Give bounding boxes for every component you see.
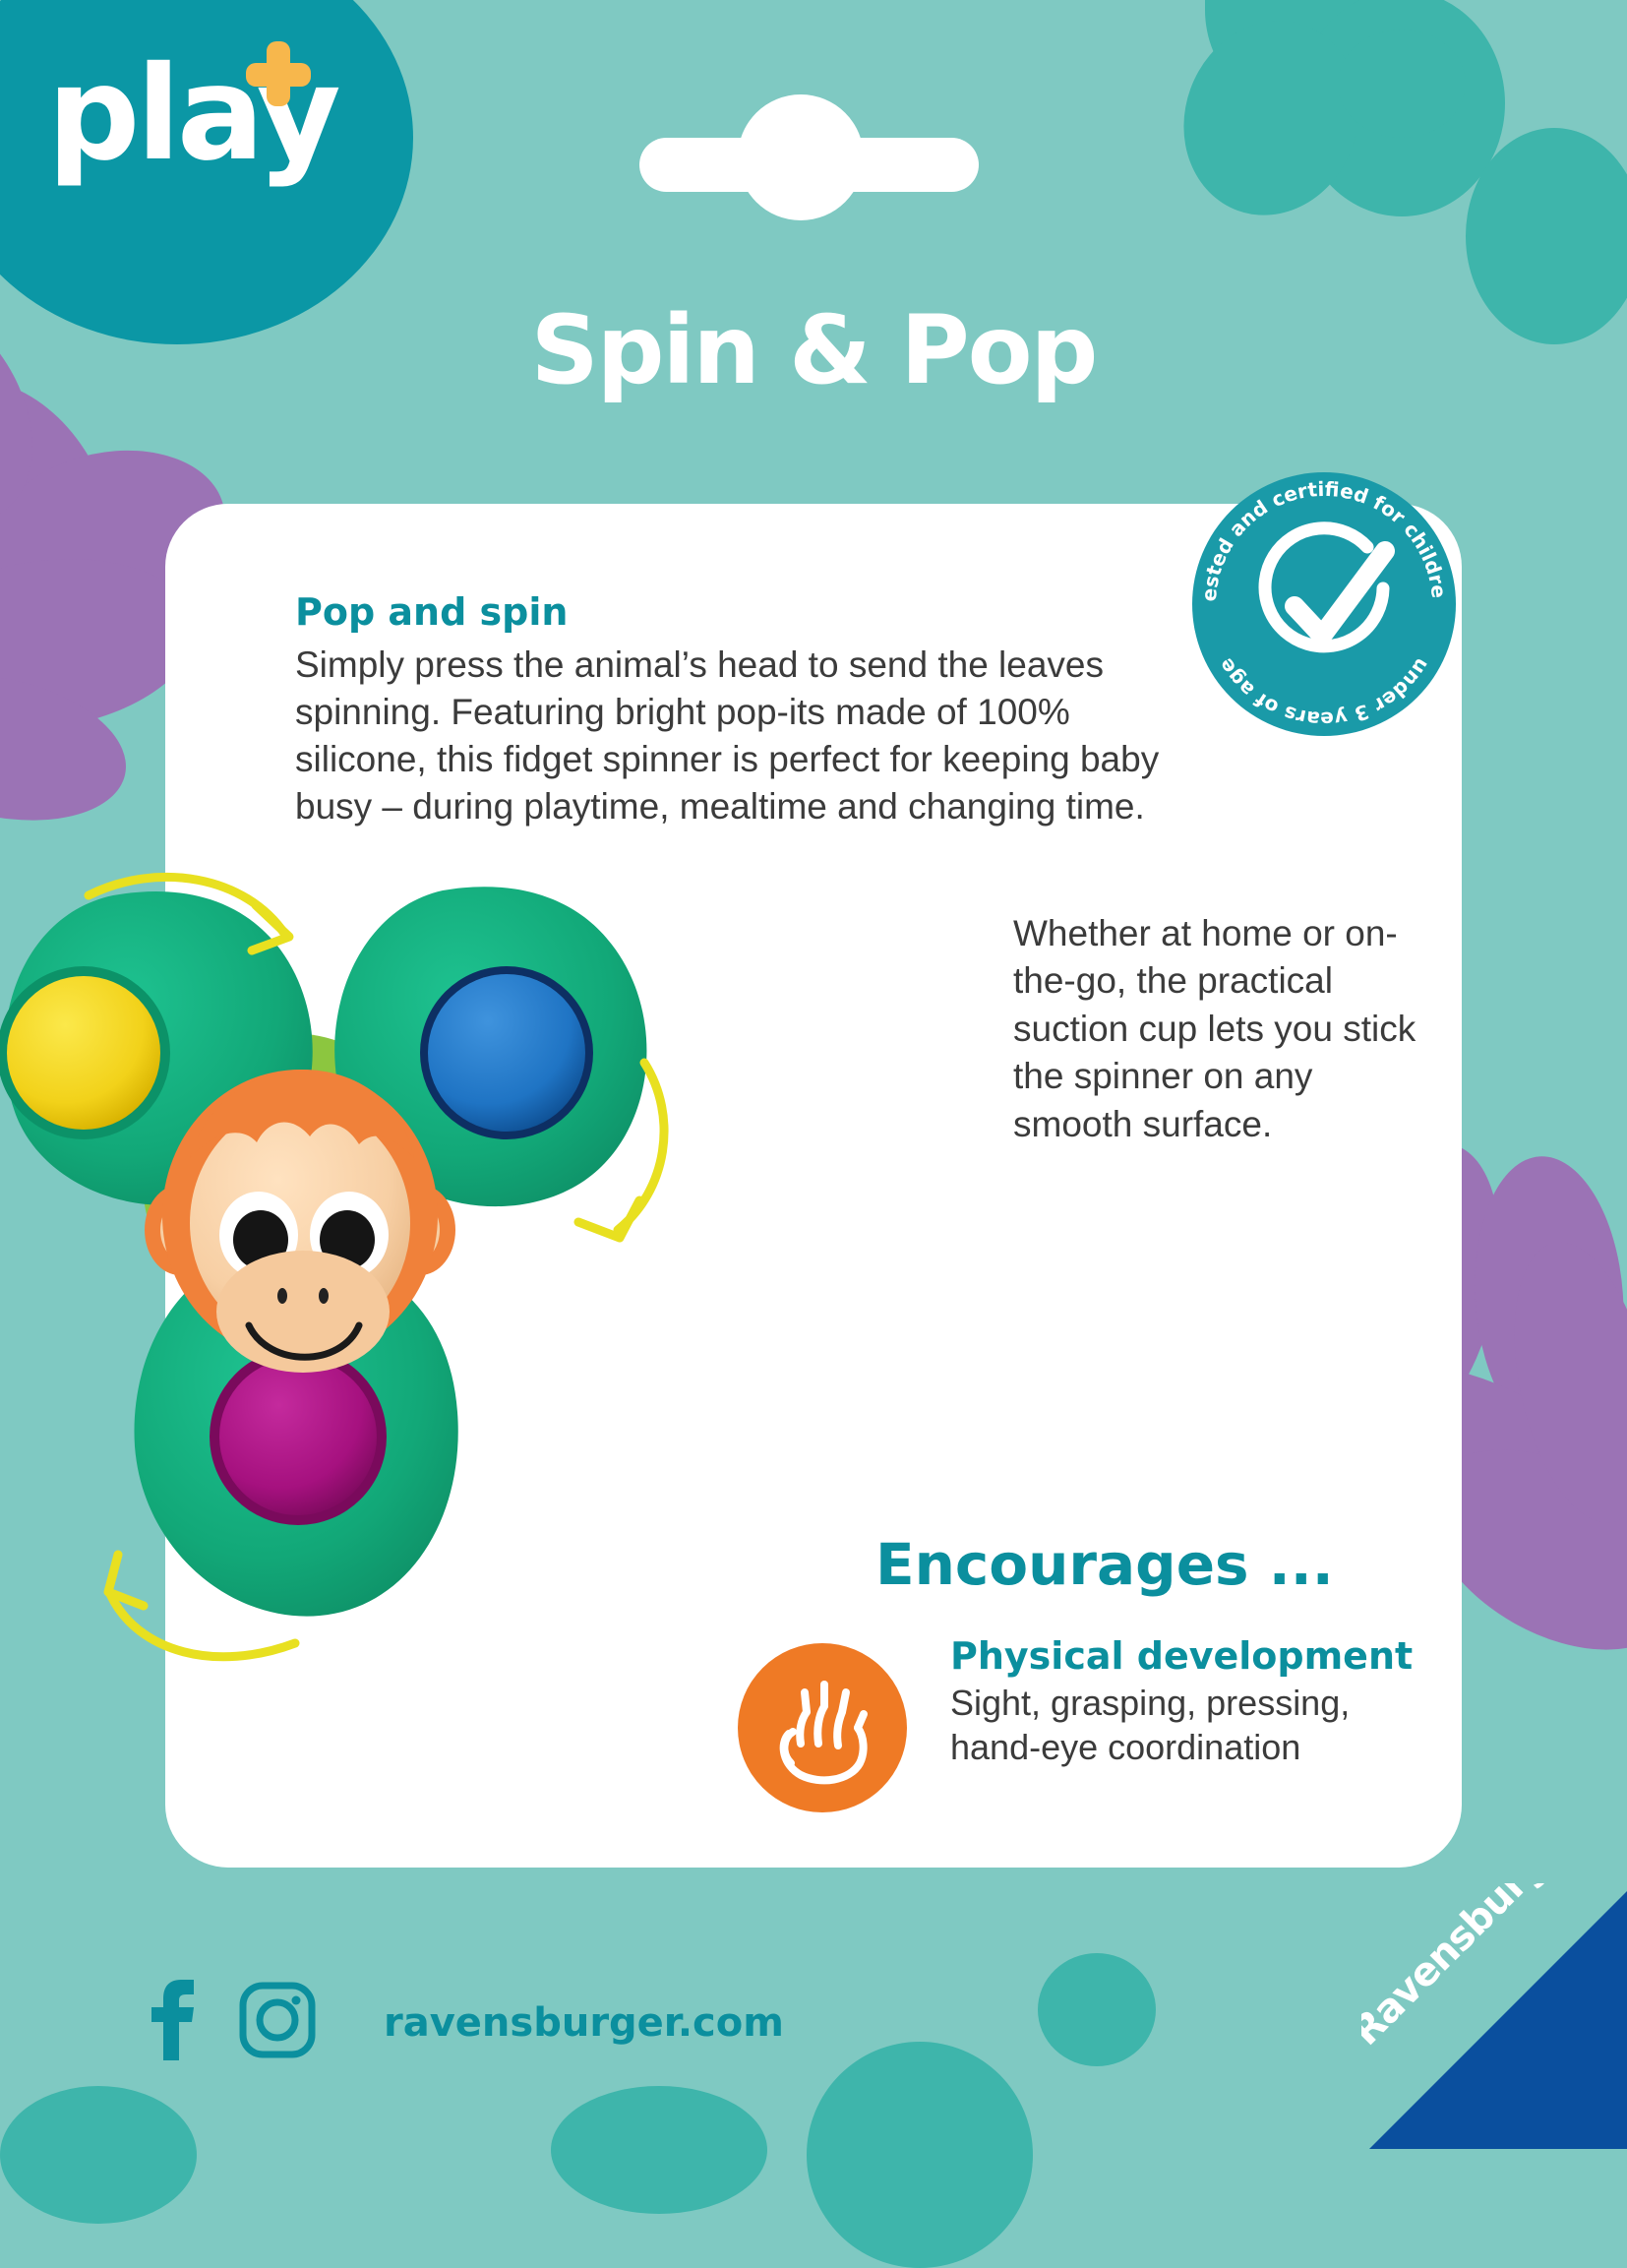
package-front: play Spin & Pop — [0, 0, 1627, 2149]
section-heading-pop-and-spin: Pop and spin — [295, 590, 1161, 634]
suction-section: Whether at home or on-the-go, the practi… — [1013, 910, 1436, 1148]
certification-badge: Tested and certified for children under … — [1192, 472, 1456, 736]
ravensburger-logo: Ravensburger — [1361, 1883, 1627, 2149]
magenta-popit — [219, 1358, 377, 1515]
check-circle-icon — [1265, 528, 1385, 646]
instagram-icon[interactable] — [238, 1981, 317, 2064]
encourages-item-title: Physical development — [950, 1633, 1442, 1679]
bg-blob-teal — [551, 2086, 767, 2214]
page-title: Spin & Pop — [0, 295, 1627, 405]
product-image — [0, 866, 748, 1702]
facebook-icon[interactable] — [148, 1978, 199, 2067]
blue-popit — [428, 974, 585, 1132]
bg-blob-teal — [1038, 1953, 1156, 2066]
svg-text:under 3 years of age: under 3 years of age — [1214, 654, 1435, 731]
hand-icon — [738, 1643, 907, 1812]
yellow-popit — [7, 976, 160, 1130]
pop-and-spin-section: Pop and spin Simply press the animal’s h… — [295, 590, 1161, 830]
encourages-item-description: Sight, grasping, pressing, hand-eye coor… — [950, 1681, 1442, 1769]
bg-blob-teal — [807, 2042, 1033, 2268]
section-body-suction: Whether at home or on-the-go, the practi… — [1013, 910, 1436, 1148]
plus-icon — [246, 41, 311, 106]
play-plus-logo: play — [0, 0, 413, 344]
encourages-item-text: Physical development Sight, grasping, pr… — [950, 1633, 1442, 1769]
encourages-heading: Encourages ... — [875, 1531, 1387, 1598]
bg-blob-teal — [0, 2086, 197, 2224]
cert-arc-bottom: under 3 years of age — [1214, 654, 1435, 731]
hang-tab-slot — [639, 138, 979, 192]
svg-text:Tested and certified for child: Tested and certified for children — [1192, 472, 1451, 602]
cert-arc-top: Tested and certified for children — [1192, 472, 1451, 602]
bg-blob-teal — [1338, 30, 1466, 138]
website-url[interactable]: ravensburger.com — [384, 2000, 784, 2046]
section-body-pop-and-spin: Simply press the animal’s head to send t… — [295, 642, 1161, 830]
footer: ravensburger.com — [148, 1978, 784, 2067]
